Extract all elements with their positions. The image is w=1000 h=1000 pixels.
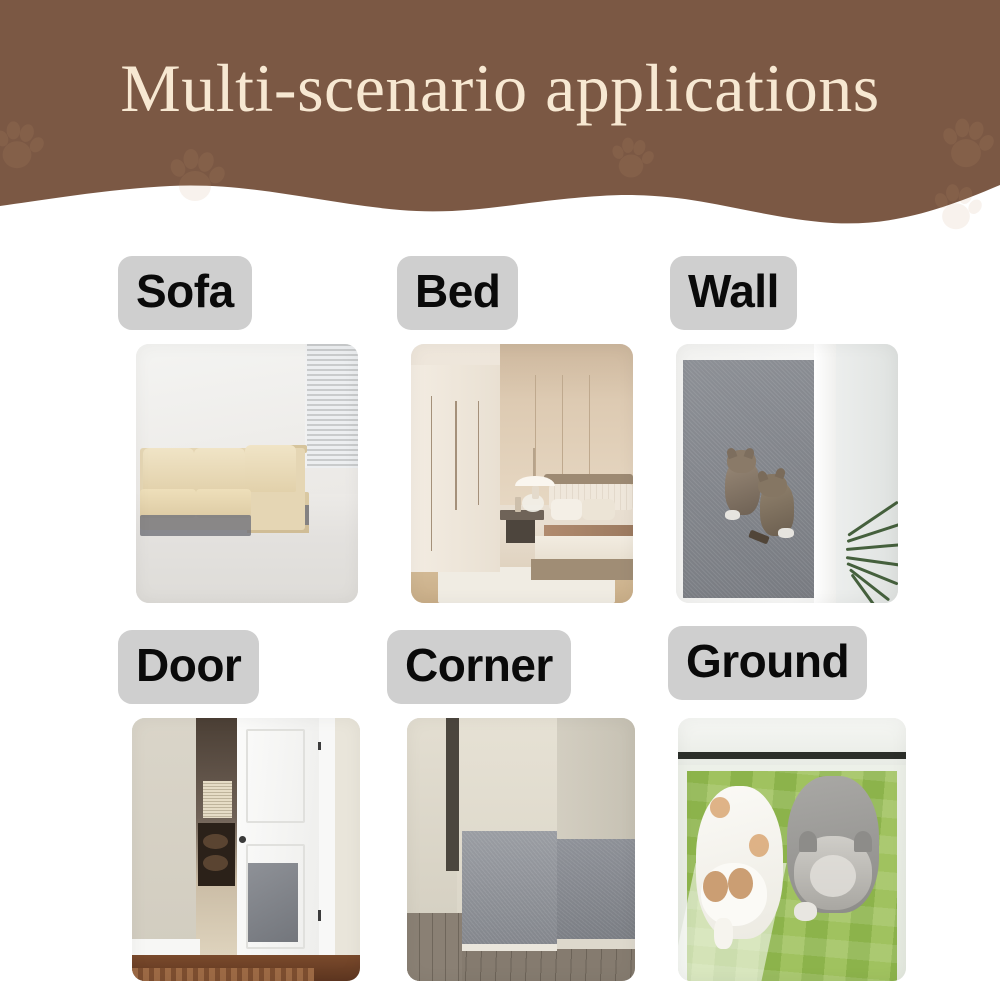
scenario-image-wall[interactable] (676, 344, 898, 603)
palm-plant (845, 505, 898, 603)
scenario-cell-sofa[interactable]: Sofa (118, 238, 358, 603)
scenario-image-ground[interactable] (678, 718, 906, 981)
scenario-cell-ground[interactable]: Ground (668, 618, 908, 983)
scenario-cell-bed[interactable]: Bed (393, 238, 633, 603)
paw-print-icon (930, 178, 982, 230)
scenario-label-sofa: Sofa (118, 256, 252, 330)
scenario-grid: Sofa (118, 238, 908, 983)
scenario-image-bed[interactable] (411, 344, 633, 603)
scenario-cell-door[interactable]: Door (118, 618, 358, 983)
header-banner: Multi-scenario applications (0, 0, 1000, 230)
scenario-label-ground: Ground (668, 626, 867, 700)
scenario-label-wall: Wall (670, 256, 797, 330)
paw-print-icon (165, 142, 225, 204)
product-infographic: Multi-scenario applications (0, 0, 1000, 1000)
scenario-image-corner[interactable] (407, 718, 635, 981)
scenario-image-door[interactable] (132, 718, 360, 981)
scenario-image-sofa[interactable] (136, 344, 358, 603)
scenario-label-corner: Corner (387, 630, 571, 704)
scenario-label-bed: Bed (397, 256, 518, 330)
scenario-cell-corner[interactable]: Corner (393, 618, 633, 983)
scenario-cell-wall[interactable]: Wall (668, 238, 908, 603)
page-title: Multi-scenario applications (0, 47, 1000, 129)
scenario-label-door: Door (118, 630, 259, 704)
paw-print-icon (608, 132, 654, 180)
